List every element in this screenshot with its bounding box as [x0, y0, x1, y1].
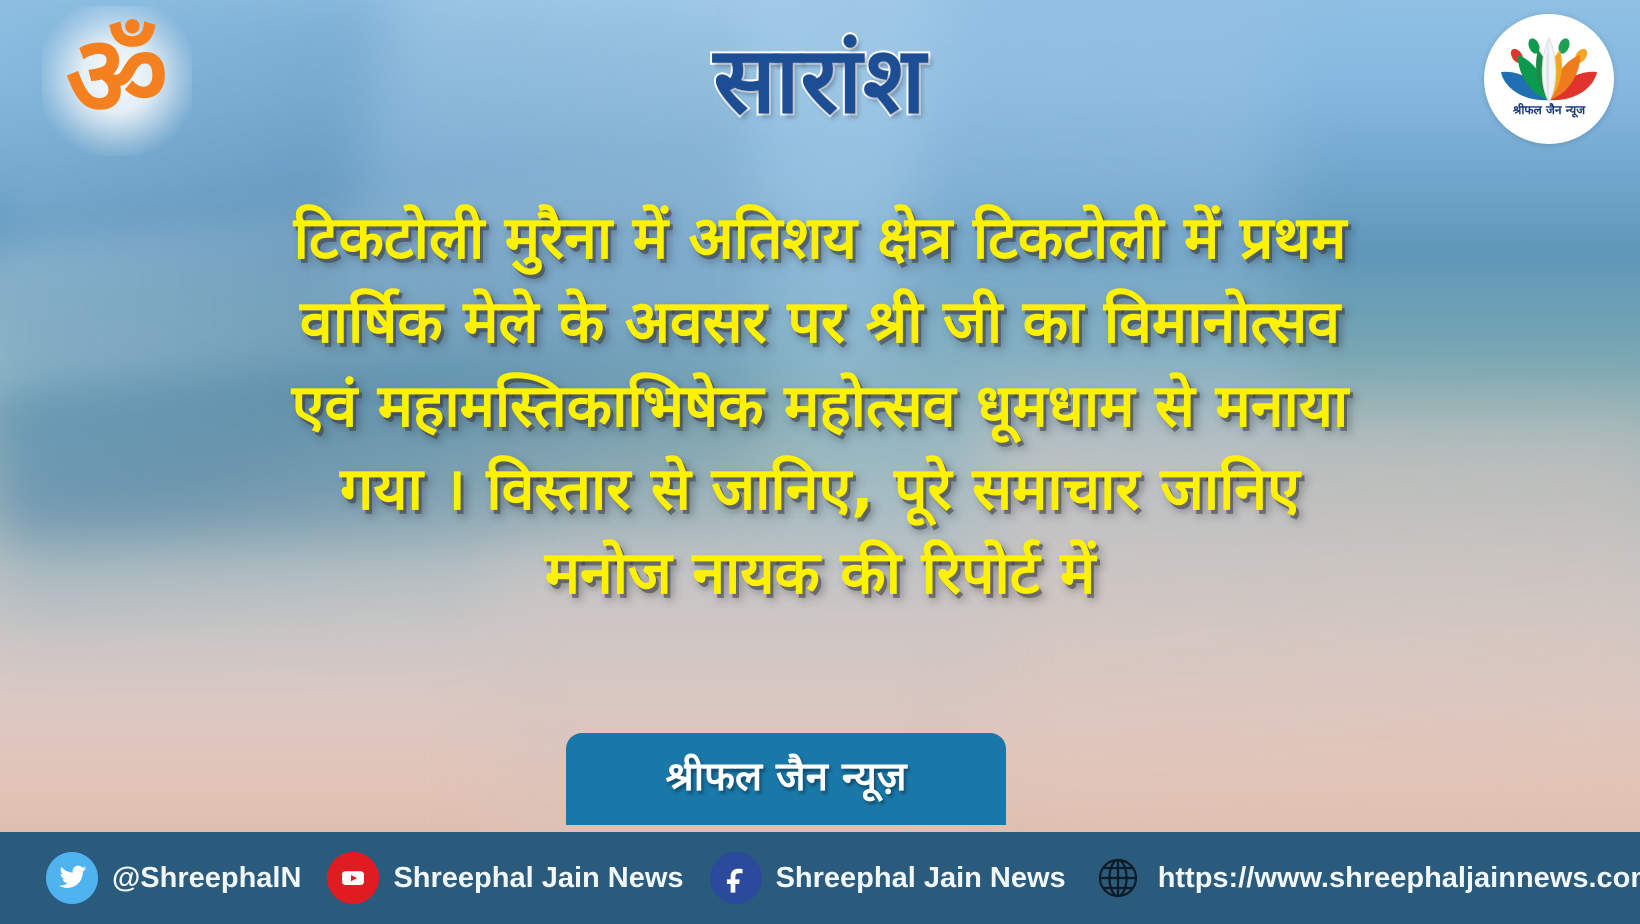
brand-name-label: श्रीफल जैन न्यूज़ — [665, 747, 906, 802]
facebook-icon[interactable] — [710, 852, 762, 904]
twitter-handle-label[interactable]: @ShreephalN — [112, 862, 301, 895]
headline-line: गया । विस्तार से जानिए, पूरे समाचार जानि… — [70, 447, 1570, 531]
facebook-page-label[interactable]: Shreephal Jain News — [776, 862, 1066, 895]
footer-item-youtube[interactable]: Shreephal Jain News — [327, 852, 709, 904]
page-title: सारांश — [0, 14, 1640, 139]
lotus-icon — [1484, 14, 1614, 144]
headline-line: टिकटोली मुरैना में अतिशय क्षेत्र टिकटोली… — [70, 196, 1570, 280]
website-url-label[interactable]: https://www.shreephaljainnews.com — [1158, 862, 1640, 895]
footer-item-facebook[interactable]: Shreephal Jain News — [710, 852, 1092, 904]
youtube-icon[interactable] — [327, 852, 379, 904]
footer-item-website[interactable]: https://www.shreephaljainnews.com — [1092, 852, 1640, 904]
brand-badge-logo: श्रीफल जैन न्यूज — [1484, 14, 1614, 144]
brand-badge-caption: श्रीफल जैन न्यूज — [1484, 101, 1614, 118]
news-summary-poster: ॐ सारांश श्रीफल जैन न्यूज टिकटोली मुर — [0, 0, 1640, 924]
brand-name-pill: श्रीफल जैन न्यूज़ — [566, 733, 1006, 825]
globe-icon[interactable] — [1092, 852, 1144, 904]
youtube-channel-label[interactable]: Shreephal Jain News — [393, 862, 683, 895]
twitter-icon[interactable] — [46, 852, 98, 904]
headline-text: टिकटोली मुरैना में अतिशय क्षेत्र टिकटोली… — [70, 196, 1570, 615]
footer-item-twitter[interactable]: @ShreephalN — [46, 852, 327, 904]
headline-line: मनोज नायक की रिपोर्ट में — [70, 531, 1570, 615]
headline-line: एवं महामस्तिकाभिषेक महोत्सव धूमधाम से मन… — [70, 364, 1570, 448]
social-footer-bar: @ShreephalN Shreephal Jain News Shreepha… — [0, 832, 1640, 924]
headline-line: वार्षिक मेले के अवसर पर श्री जी का विमान… — [70, 280, 1570, 364]
